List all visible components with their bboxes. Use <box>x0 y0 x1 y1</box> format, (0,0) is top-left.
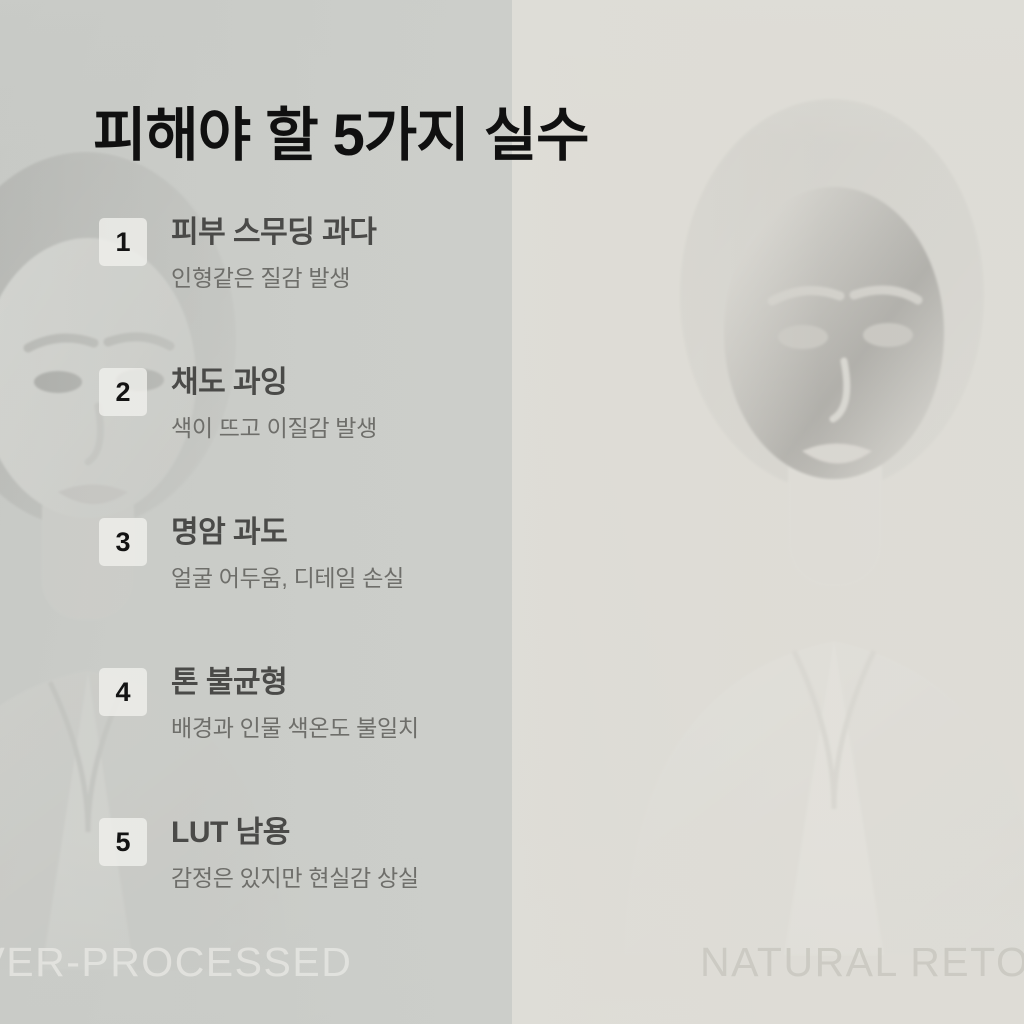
item-number-badge: 2 <box>99 368 147 416</box>
item-title: LUT 남용 <box>171 814 523 852</box>
item-number-badge: 3 <box>99 518 147 566</box>
item-description: 배경과 인물 색온도 불일치 <box>171 714 523 744</box>
item-title: 채도 과잉 <box>171 364 523 402</box>
item-description: 인형같은 질감 발생 <box>171 264 523 294</box>
item-title: 톤 불균형 <box>171 664 523 702</box>
list-item: 5 LUT 남용 감정은 있지만 현실감 상실 <box>93 814 523 922</box>
mistakes-list: 1 피부 스무딩 과다 인형같은 질감 발생 2 채도 과잉 색이 뜨고 이질감… <box>93 214 523 922</box>
list-item: 1 피부 스무딩 과다 인형같은 질감 발생 <box>93 214 523 322</box>
right-panel-overlay <box>512 0 1024 1024</box>
watermark-over-processed: OVER-PROCESSED <box>0 939 352 986</box>
item-description: 얼굴 어두움, 디테일 손실 <box>171 564 523 594</box>
list-item: 2 채도 과잉 색이 뜨고 이질감 발생 <box>93 364 523 472</box>
item-title: 피부 스무딩 과다 <box>171 214 523 252</box>
page-title: 피해야 할 5가지 실수 <box>93 105 588 168</box>
item-description: 색이 뜨고 이질감 발생 <box>171 414 523 444</box>
item-title: 명암 과도 <box>171 514 523 552</box>
slide-canvas: OVER-PROCESSED NATURAL RETOUCH 피해야 할 5가지… <box>0 0 1024 1024</box>
list-item: 4 톤 불균형 배경과 인물 색온도 불일치 <box>93 664 523 772</box>
item-number-badge: 5 <box>99 818 147 866</box>
watermark-natural-retouch: NATURAL RETOUCH <box>700 939 1024 986</box>
item-number-badge: 1 <box>99 218 147 266</box>
item-number-badge: 4 <box>99 668 147 716</box>
item-description: 감정은 있지만 현실감 상실 <box>171 864 523 894</box>
list-item: 3 명암 과도 얼굴 어두움, 디테일 손실 <box>93 514 523 622</box>
